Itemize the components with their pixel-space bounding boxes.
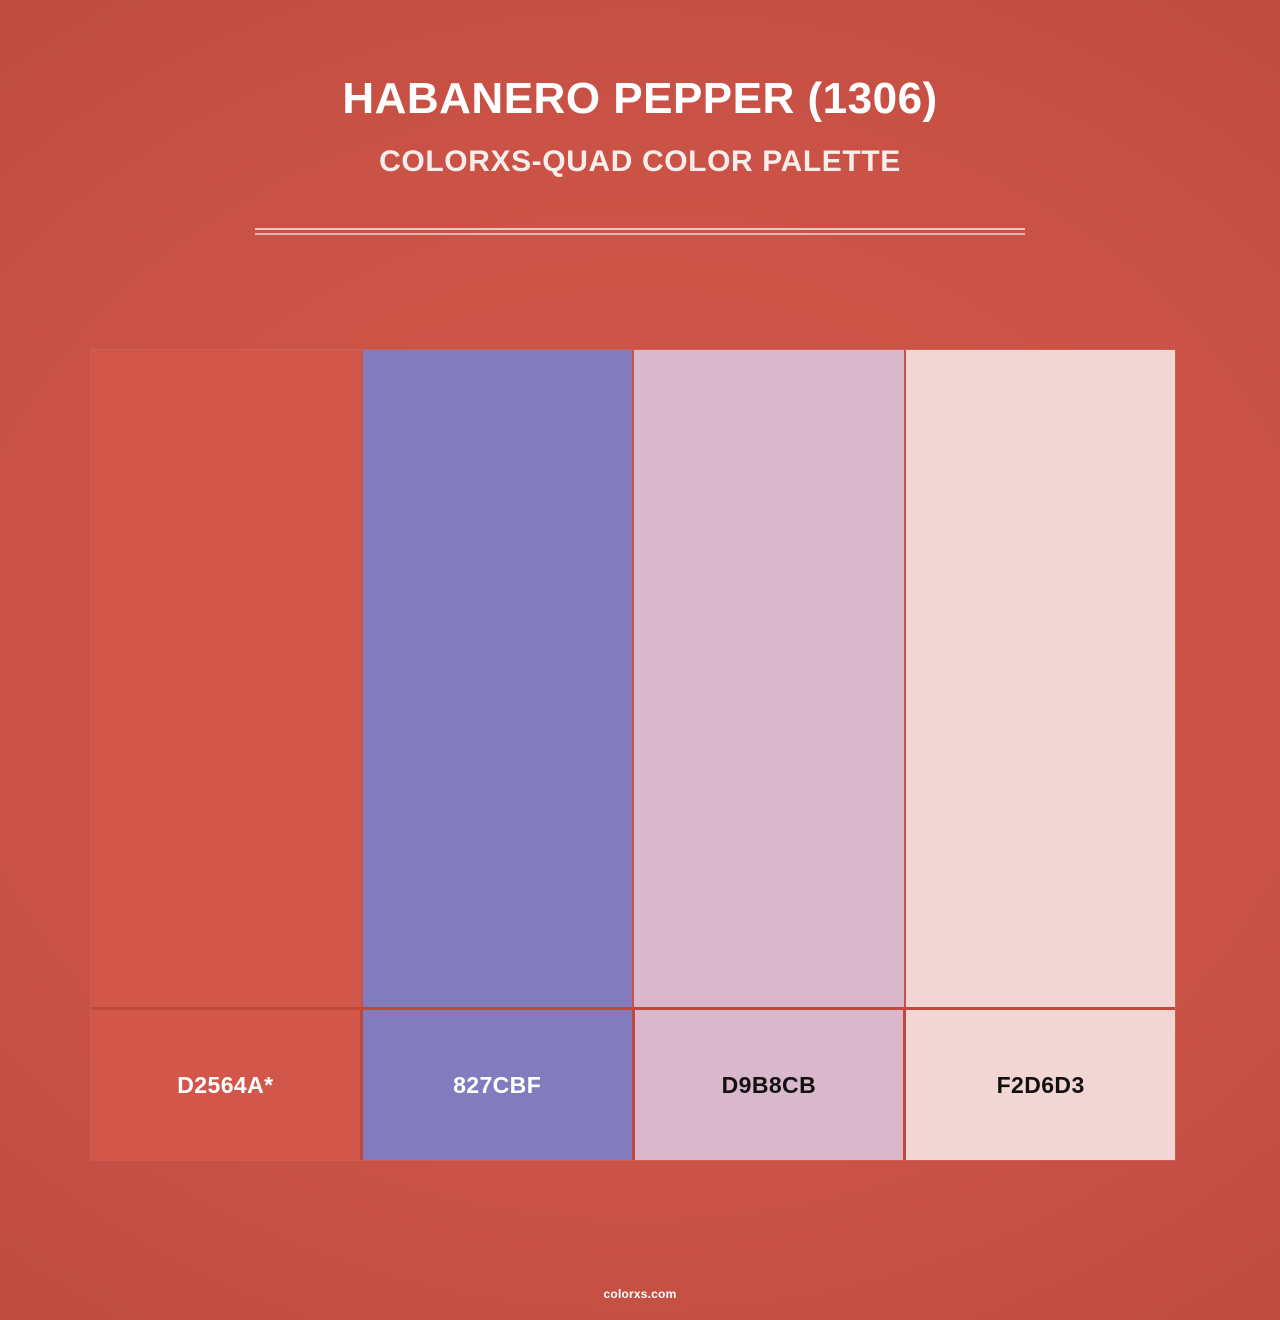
page-footer: colorxs.com [0,1285,1280,1303]
divider-rule-top [255,228,1025,230]
color-hex-label-2: 827CBF [453,1072,541,1099]
header-divider [255,228,1025,235]
color-swatch-4[interactable] [906,350,1176,1007]
site-watermark: colorxs.com [604,1287,677,1301]
swatch-row [91,350,1175,1007]
color-label-cell-3[interactable]: D9B8CB [635,1010,907,1160]
color-palette: D2564A* 827CBF D9B8CB F2D6D3 [91,350,1175,1160]
divider-rule-bottom [255,233,1025,235]
label-row: D2564A* 827CBF D9B8CB F2D6D3 [91,1010,1175,1160]
color-swatch-2[interactable] [363,350,635,1007]
page-subtitle: COLORXS-QUAD COLOR PALETTE [0,124,1280,180]
color-swatch-1[interactable] [91,350,363,1007]
color-label-cell-2[interactable]: 827CBF [363,1010,635,1160]
page-header: HABANERO PEPPER (1306) COLORXS-QUAD COLO… [0,0,1280,180]
color-swatch-3[interactable] [634,350,906,1007]
color-hex-label-4: F2D6D3 [997,1072,1085,1099]
color-label-cell-1[interactable]: D2564A* [91,1010,363,1160]
page-title: HABANERO PEPPER (1306) [0,0,1280,124]
color-hex-label-1: D2564A* [177,1072,273,1099]
color-label-cell-4[interactable]: F2D6D3 [906,1010,1175,1160]
color-hex-label-3: D9B8CB [722,1072,816,1099]
